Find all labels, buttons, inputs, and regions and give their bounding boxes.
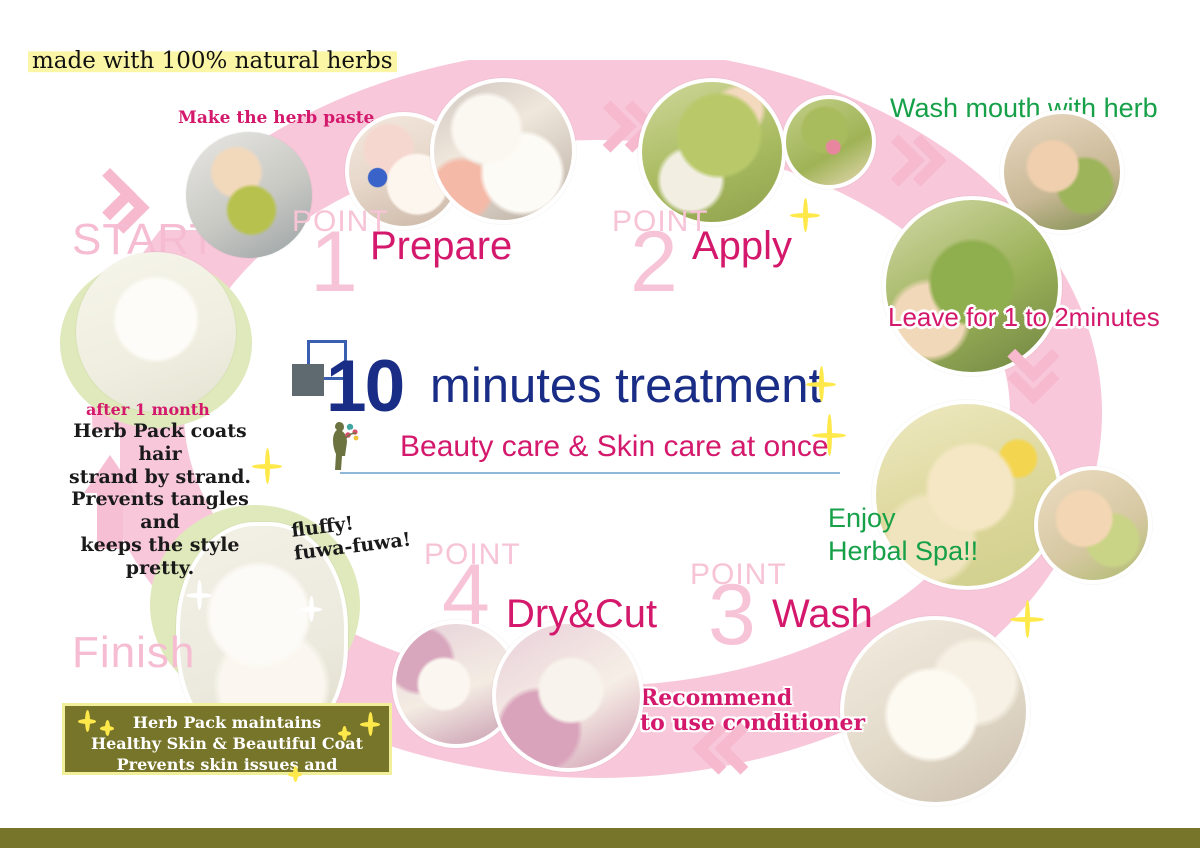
caption-leave-for-1-to-2-minutes: Leave for 1 to 2minutes <box>888 302 1160 333</box>
lady-with-flowers-icon <box>326 418 360 474</box>
finish-label: Finish <box>72 628 195 678</box>
minutes-number: 10 <box>326 350 403 423</box>
badge-after-1-month: after 1 month <box>86 400 210 419</box>
result-line-3: Prevents tangles and <box>50 488 270 534</box>
square-solid-icon <box>292 364 324 396</box>
sparkle-icon-wash <box>1010 600 1044 638</box>
sparkle-icon-claim-b <box>100 720 114 736</box>
note-recommend-conditioner: Recommend to use conditioner <box>640 686 865 735</box>
result-line-4: keeps the style pretty. <box>50 534 270 580</box>
photo-poodle-after-one-month <box>76 252 236 412</box>
photo-dog-face-covered-in-herb-paste <box>782 95 876 189</box>
point-1-number: 1 <box>310 227 358 298</box>
sparkle-icon-apply <box>790 198 820 232</box>
sparkle-icon-finish-a <box>186 580 212 610</box>
note-recommend-line1: Recommend <box>640 686 865 711</box>
sparkle-icon-claim-a <box>78 710 96 732</box>
photo-applying-green-herb-paste-to-dog <box>638 78 786 226</box>
step-3-title: Wash <box>772 592 873 637</box>
step-1-title: Prepare <box>370 224 512 269</box>
caption-enjoy-herbal-spa: Enjoy Herbal Spa!! <box>828 502 978 568</box>
caption-wash-mouth-with-herb: Wash mouth with herb <box>890 92 1158 125</box>
minutes-treatment-label: minutes treatment <box>430 362 822 411</box>
photo-poodle-being-groomed <box>430 78 576 224</box>
step-4-title: Dry&Cut <box>506 592 657 637</box>
caption-make-herb-paste: Make the herb paste <box>178 108 374 128</box>
point-2-number: 2 <box>630 227 678 298</box>
page-headline: made with 100% natural herbs <box>28 48 397 74</box>
caption-enjoy-line1: Enjoy <box>828 502 978 535</box>
claim-line-3: Prevents skin issues and unpleasant odor <box>65 754 389 796</box>
result-description: Herb Pack coats hair strand by strand. P… <box>50 420 270 580</box>
sparkle-icon-finish-b <box>300 596 322 622</box>
sparkle-icon-claim-d <box>338 726 351 741</box>
photo-dog-being-shampooed <box>840 616 1030 806</box>
result-line-1: Herb Pack coats hair <box>50 420 270 466</box>
sparkle-icon-center-a <box>806 366 836 402</box>
sparkle-icon-center-b <box>812 414 846 456</box>
bottom-bar <box>0 828 1200 848</box>
center-subtitle: Beauty care & Skin care at once <box>400 430 829 464</box>
photo-pouring-herb-paste-into-bowl <box>186 132 312 258</box>
note-recommend-line2: to use conditioner <box>640 711 865 736</box>
point-4-number: 4 <box>442 560 490 631</box>
center-underline <box>340 472 840 474</box>
sparkle-icon-claim-e <box>288 766 302 782</box>
photo-hands-rinsing-dog <box>1034 466 1152 584</box>
photo-dog-wrapped-in-towel <box>492 620 644 772</box>
result-line-2: strand by strand. <box>50 466 270 489</box>
infographic-canvas: made with 100% natural herbs START Make … <box>0 0 1200 848</box>
sparkle-icon-claim-c <box>360 712 380 736</box>
step-2-title: Apply <box>692 224 792 269</box>
point-3-number: 3 <box>708 580 756 651</box>
caption-enjoy-line2: Herbal Spa!! <box>828 535 978 568</box>
